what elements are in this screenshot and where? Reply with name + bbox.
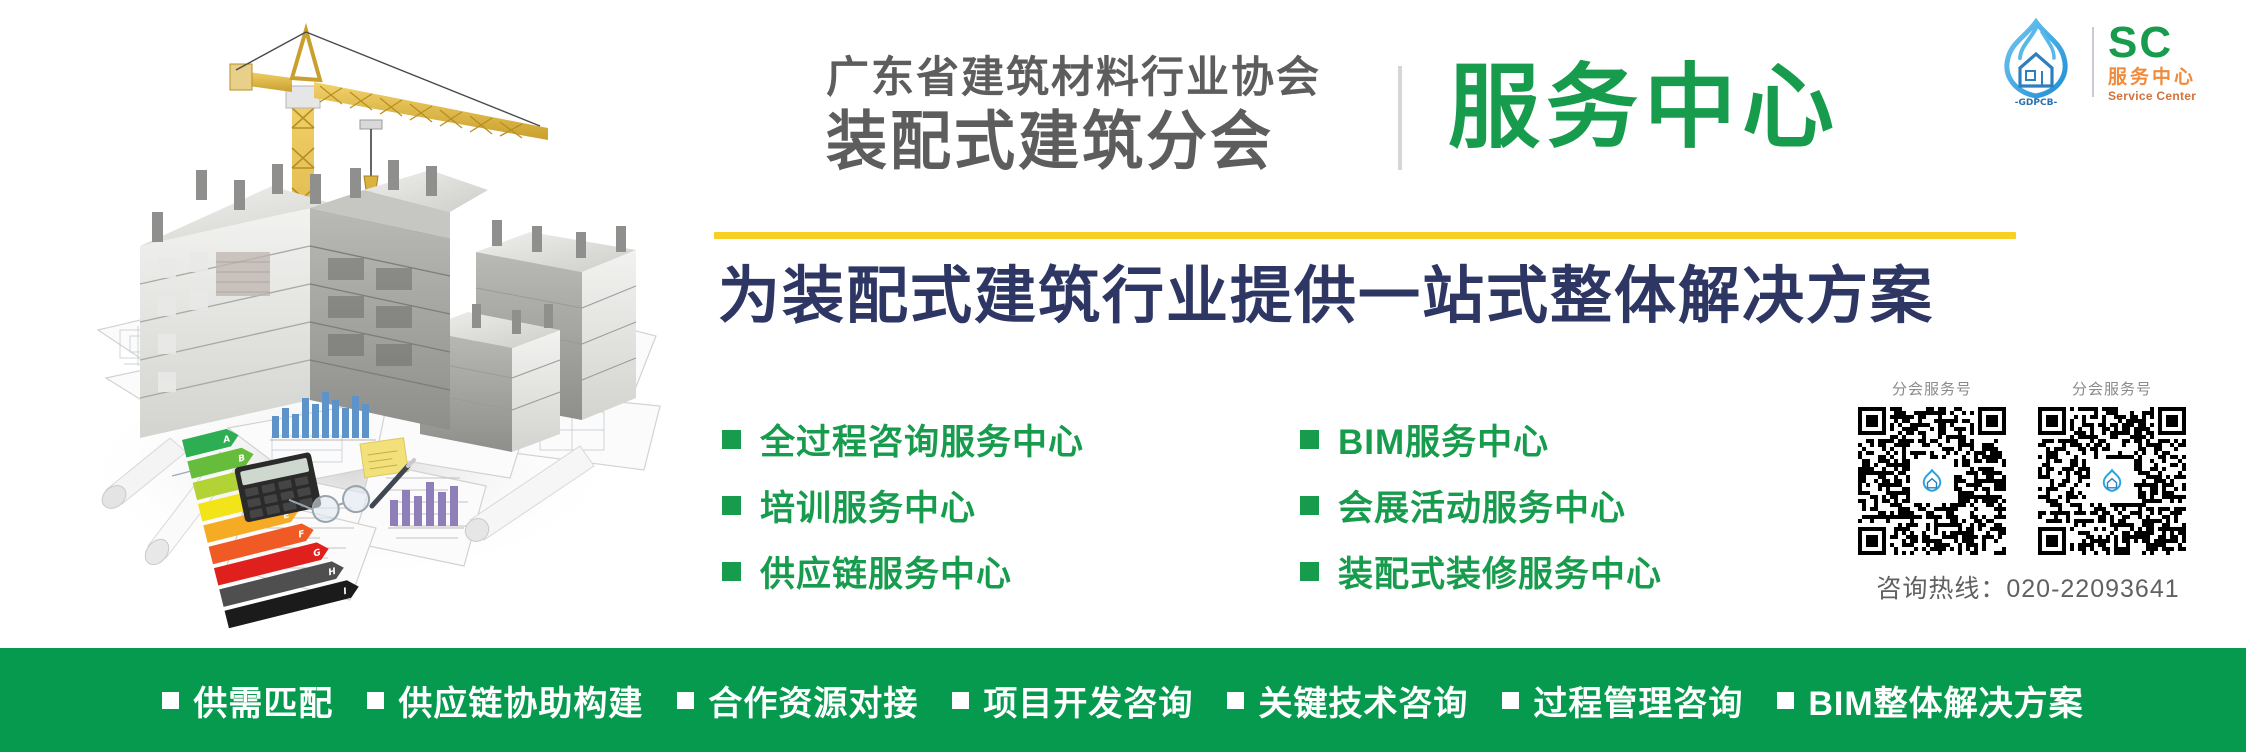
square-bullet-icon: [722, 562, 741, 581]
bottom-bar-item[interactable]: BIM整体解决方案: [1777, 676, 2083, 725]
service-item-label: BIM服务中心: [1338, 414, 1549, 465]
bottom-bar-item[interactable]: 关键技术咨询: [1227, 676, 1468, 725]
bottom-bar-label: 项目开发咨询: [983, 676, 1193, 725]
logo-divider: [2092, 27, 2094, 97]
bottom-bar-item[interactable]: 供需匹配: [162, 676, 333, 725]
logo-chinese-text: 服务中心: [2108, 67, 2196, 89]
building-model: [140, 160, 636, 452]
title-vertical-divider: [1398, 66, 1402, 170]
qr-code-image[interactable]: [1858, 407, 2006, 555]
qr-row: 分会服务号 分会服务号: [1858, 378, 2198, 555]
service-item-label: 供应链服务中心: [760, 546, 1012, 597]
banner-root: ABC DEF GHI: [0, 0, 2246, 752]
square-bullet-icon: [367, 692, 384, 709]
square-bullet-icon: [1300, 562, 1319, 581]
association-name-line1: 广东省建筑材料行业协会: [826, 52, 1386, 104]
square-bullet-icon: [162, 692, 179, 709]
square-bullet-icon: [722, 430, 741, 449]
brand-logo: -GDPCB- SC 服务中心 Service Center: [1990, 14, 2230, 110]
service-item[interactable]: BIM服务中心: [1300, 406, 1662, 472]
bottom-bar-label: 供需匹配: [193, 676, 333, 725]
qr-center-logo-icon: [1915, 464, 1949, 498]
square-bullet-icon: [1300, 496, 1319, 515]
logo-english-text: Service Center: [2108, 89, 2196, 103]
bottom-bar-label: 过程管理咨询: [1533, 676, 1743, 725]
service-item[interactable]: 培训服务中心: [722, 472, 1084, 538]
square-bullet-icon: [1777, 692, 1794, 709]
association-title: 广东省建筑材料行业协会 装配式建筑分会: [826, 52, 1386, 174]
qr-code-image[interactable]: [2038, 407, 2186, 555]
square-bullet-icon: [952, 692, 969, 709]
bottom-green-bar: 供需匹配 供应链协助构建 合作资源对接 项目开发咨询 关键技术咨询 过程管理咨询: [0, 648, 2246, 752]
service-item[interactable]: 全过程咨询服务中心: [722, 406, 1084, 472]
qr-section: 分会服务号 分会服务号: [1858, 378, 2198, 605]
service-center-heading: 服务中心: [1448, 56, 1840, 160]
bottom-bar-label: BIM整体解决方案: [1808, 676, 2083, 725]
gdpcb-flame-house-icon: -GDPCB-: [1990, 16, 2082, 108]
gold-divider: [714, 232, 2016, 239]
construction-illustration: ABC DEF GHI: [20, 0, 680, 640]
bottom-bar-item[interactable]: 项目开发咨询: [952, 676, 1193, 725]
qr-cell: 分会服务号: [1858, 378, 2006, 555]
bottom-bar-label: 关键技术咨询: [1258, 676, 1468, 725]
bottom-bar-item[interactable]: 合作资源对接: [677, 676, 918, 725]
hotline-text: 咨询热线：020-22093641: [1858, 569, 2198, 605]
square-bullet-icon: [722, 496, 741, 515]
square-bullet-icon: [1502, 692, 1519, 709]
association-name-line2: 装配式建筑分会: [826, 106, 1386, 177]
bottom-bar-label: 合作资源对接: [708, 676, 918, 725]
qr-center-logo-icon: [2095, 464, 2129, 498]
svg-text:-GDPCB-: -GDPCB-: [2015, 98, 2058, 108]
qr-cell: 分会服务号: [2038, 378, 2186, 555]
service-item[interactable]: 装配式装修服务中心: [1300, 538, 1662, 604]
logo-sc-text: SC: [2108, 22, 2196, 64]
service-list-right: BIM服务中心 会展活动服务中心 装配式装修服务中心: [1300, 406, 1662, 604]
service-item-label: 全过程咨询服务中心: [760, 414, 1084, 465]
logo-wordmark: SC 服务中心 Service Center: [2108, 22, 2196, 103]
square-bullet-icon: [1300, 430, 1319, 449]
slogan-text: 为装配式建筑行业提供一站式整体解决方案: [718, 258, 1934, 336]
service-item-label: 装配式装修服务中心: [1338, 546, 1662, 597]
service-item-label: 培训服务中心: [760, 480, 976, 531]
service-item-label: 会展活动服务中心: [1338, 480, 1626, 531]
qr-caption: 分会服务号: [2038, 378, 2186, 399]
square-bullet-icon: [1227, 692, 1244, 709]
bottom-bar-label: 供应链协助构建: [398, 676, 643, 725]
bottom-bar-item[interactable]: 供应链协助构建: [367, 676, 643, 725]
qr-caption: 分会服务号: [1858, 378, 2006, 399]
bottom-bar-item[interactable]: 过程管理咨询: [1502, 676, 1743, 725]
square-bullet-icon: [677, 692, 694, 709]
service-list-left: 全过程咨询服务中心 培训服务中心 供应链服务中心: [722, 406, 1084, 604]
bottom-bar-items: 供需匹配 供应链协助构建 合作资源对接 项目开发咨询 关键技术咨询 过程管理咨询: [162, 676, 2083, 725]
service-item[interactable]: 供应链服务中心: [722, 538, 1084, 604]
service-item[interactable]: 会展活动服务中心: [1300, 472, 1662, 538]
